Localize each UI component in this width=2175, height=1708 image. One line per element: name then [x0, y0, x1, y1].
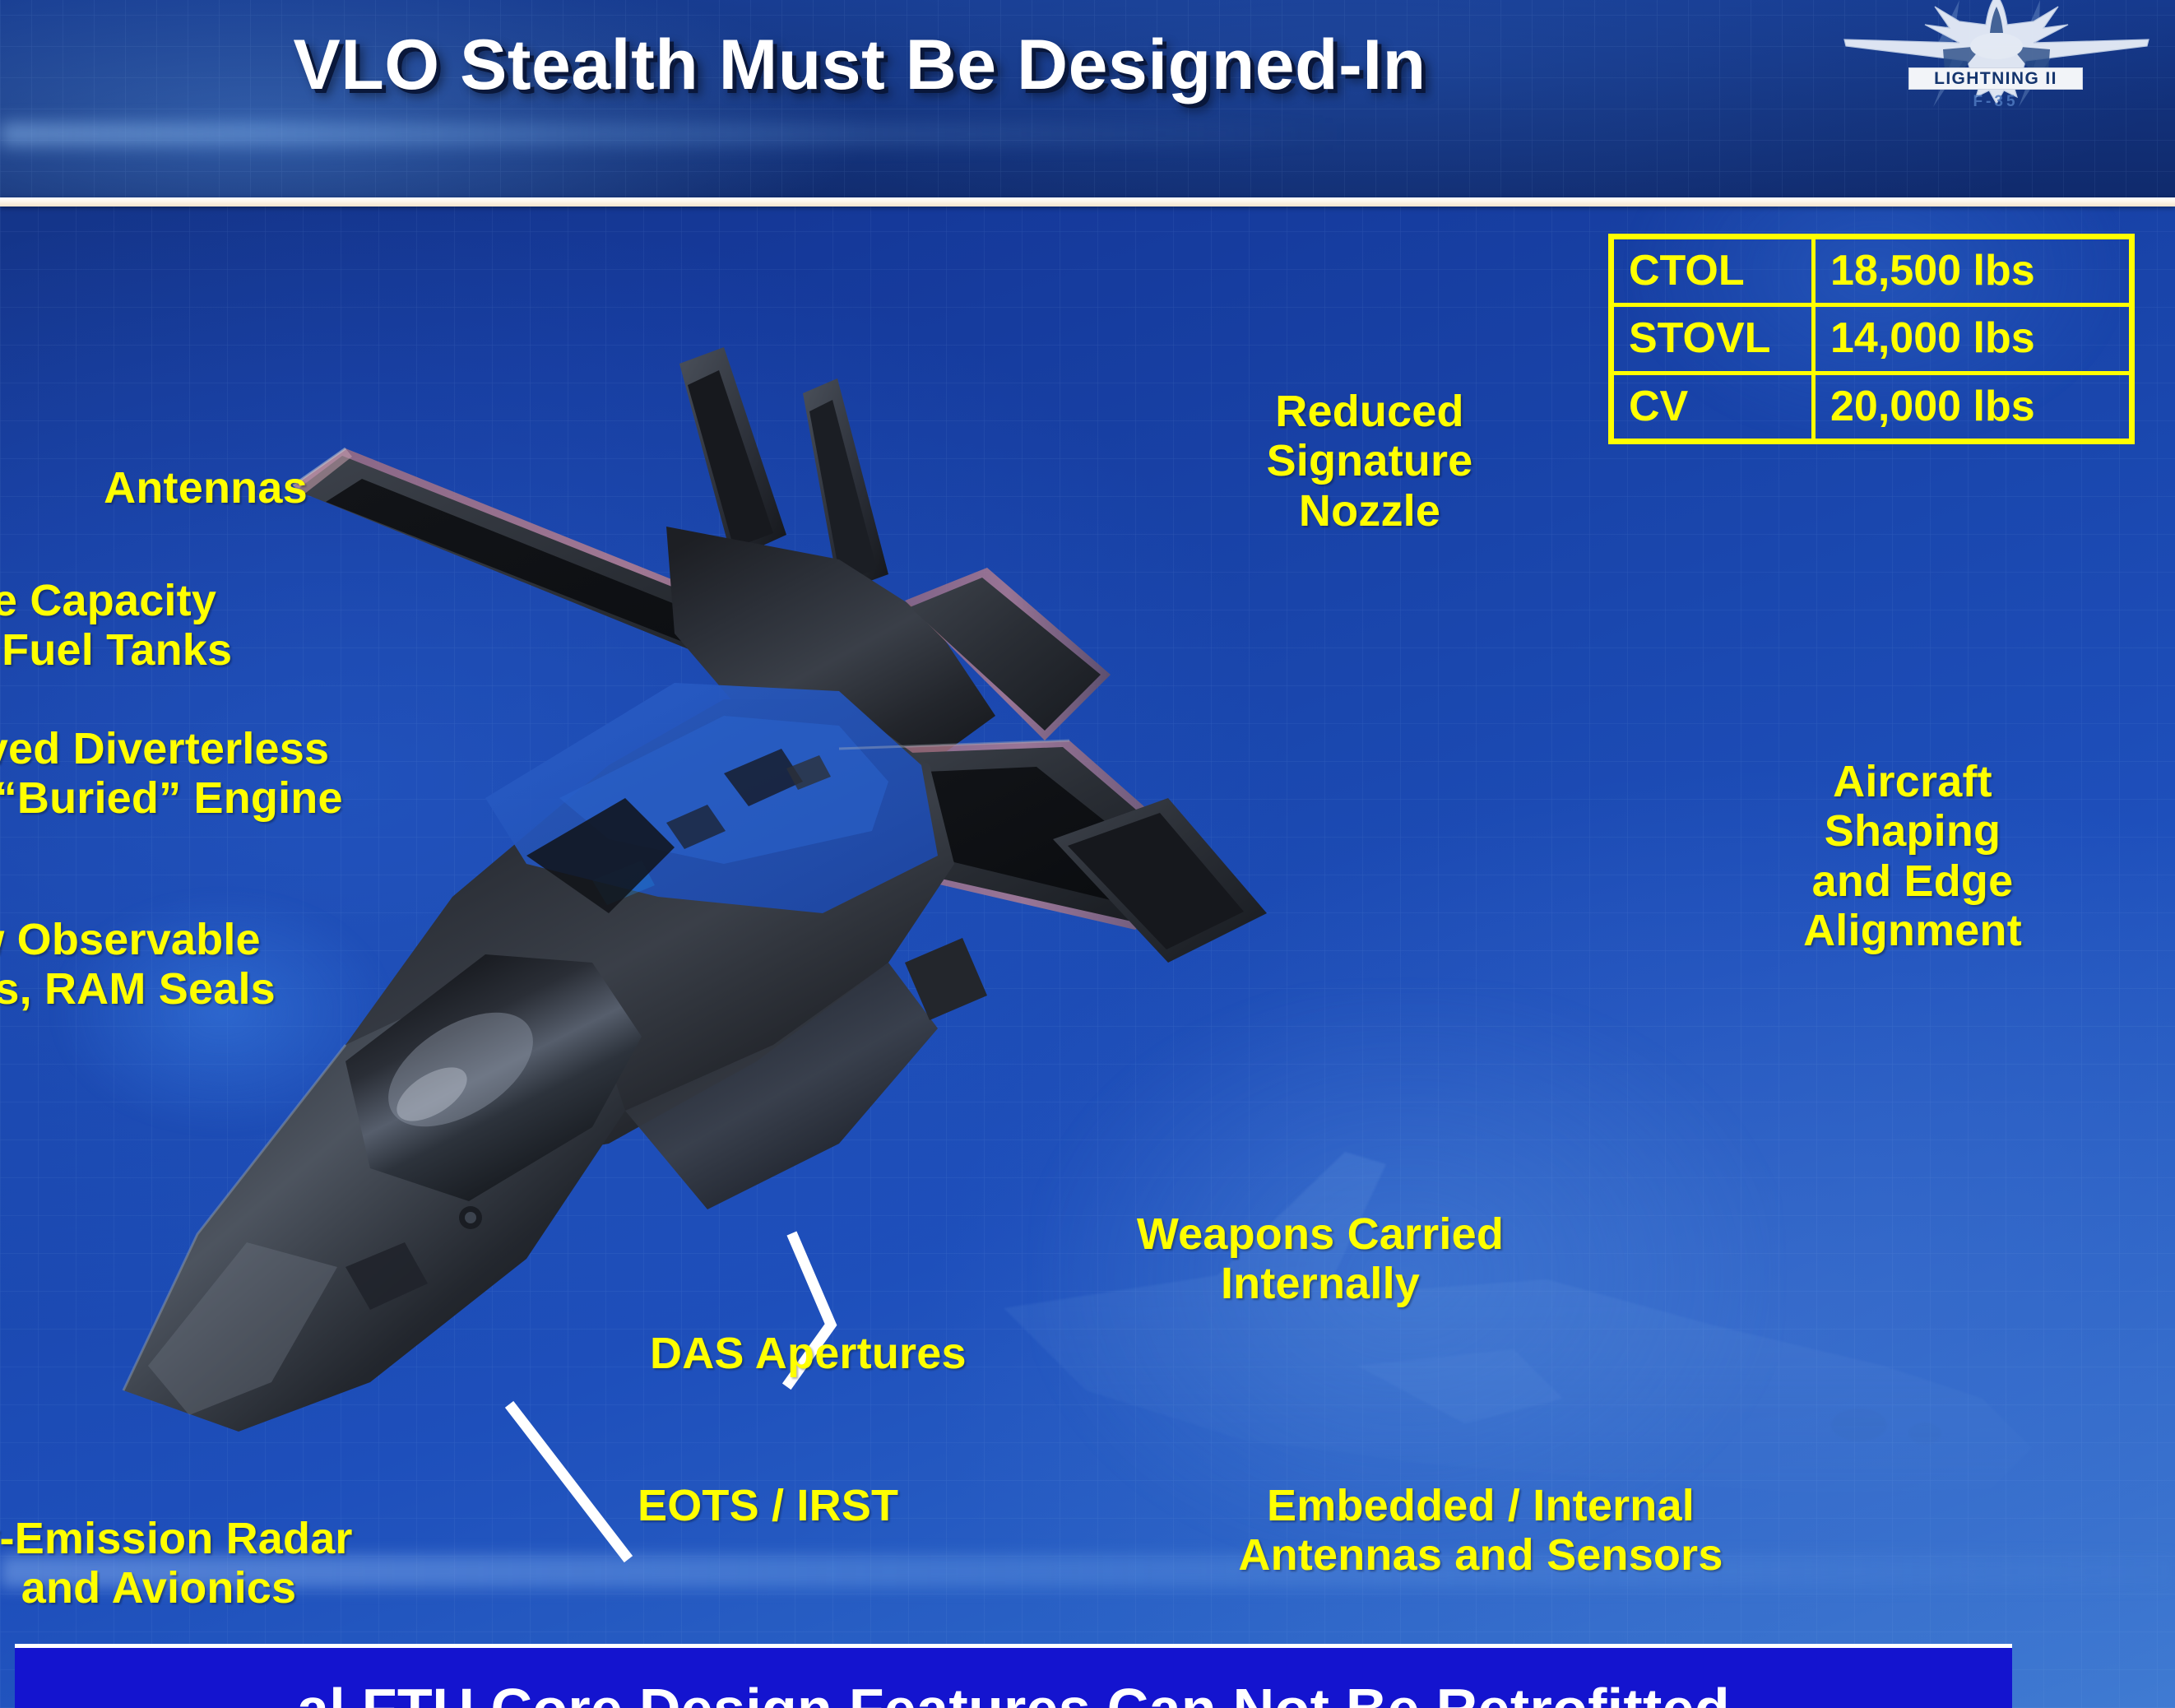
callout-fuel-capacity: e Capacity l Fuel Tanks	[0, 576, 281, 675]
callout-diverterless-inlet: ved Diverterless , “Buried” Engine	[0, 724, 420, 824]
callout-nozzle-line-1: Reduced	[1230, 387, 1510, 436]
callout-embedded-line-1: Embedded / Internal	[1152, 1481, 1810, 1530]
callout-fuel-line-2: l Fuel Tanks	[0, 625, 281, 675]
spec-variant: STOVL	[1612, 305, 1814, 373]
callout-eots-label: EOTS / IRST	[638, 1481, 898, 1530]
bottom-banner: al FTU Core Design Features Can Not Be R…	[15, 1644, 2012, 1708]
spec-payload: 20,000 lbs	[1814, 373, 2132, 441]
callout-nozzle-line-2: Signature	[1230, 436, 1510, 485]
header-light-streak	[0, 123, 1348, 145]
callout-shaping-line-4: Alignment	[1732, 906, 2094, 955]
callout-nozzle-line-3: Nozzle	[1230, 486, 1510, 536]
bottom-banner-text: al FTU Core Design Features Can Not Be R…	[15, 1676, 2012, 1708]
callout-eots-irst: EOTS / IRST	[638, 1481, 1024, 1530]
spec-payload: 14,000 lbs	[1814, 305, 2132, 373]
callout-das-label: DAS Apertures	[650, 1329, 967, 1378]
callout-fuel-line-1: e Capacity	[0, 576, 281, 625]
callout-inlet-line-2: , “Buried” Engine	[0, 773, 420, 823]
slide-root: VLO Stealth Must Be Designed-In LIGHTNIN…	[0, 0, 2175, 1708]
callout-embedded-line-2: Antennas and Sensors	[1152, 1530, 1810, 1580]
callout-embedded-antennas: Embedded / Internal Antennas and Sensors	[1152, 1481, 1810, 1580]
callout-low-emission-radar: w-Emission Radar and Avionics	[0, 1514, 410, 1613]
callout-weapons-line-2: Internally	[1074, 1259, 1567, 1308]
table-row: CV 20,000 lbs	[1612, 373, 2132, 441]
header-divider-rule	[0, 197, 2175, 207]
callout-lo-line-2: ms, RAM Seals	[0, 964, 329, 1014]
callout-radar-line-2: and Avionics	[0, 1563, 410, 1613]
page-title: VLO Stealth Must Be Designed-In	[0, 25, 1719, 106]
spec-payload: 18,500 lbs	[1814, 237, 2132, 305]
spec-variant: CTOL	[1612, 237, 1814, 305]
logo-wordmark: LIGHTNING II	[1908, 67, 2083, 90]
callout-antennas: Antennas	[86, 463, 325, 513]
callout-antennas-label: Antennas	[104, 463, 308, 513]
payload-spec-table: CTOL 18,500 lbs STOVL 14,000 lbs CV 20,0…	[1608, 234, 2135, 444]
callout-shaping-line-3: and Edge	[1732, 856, 2094, 906]
callout-aircraft-shaping: Aircraft Shaping and Edge Alignment	[1732, 757, 2094, 956]
callout-das-apertures: DAS Apertures	[650, 1329, 1053, 1378]
table-row: CTOL 18,500 lbs	[1612, 237, 2132, 305]
callout-lo-line-1: w Observable	[0, 915, 329, 964]
callout-weapons-internal: Weapons Carried Internally	[1074, 1209, 1567, 1309]
callout-low-observable-seals: w Observable ms, RAM Seals	[0, 915, 329, 1014]
callout-shaping-line-2: Shaping	[1732, 806, 2094, 856]
table-row: STOVL 14,000 lbs	[1612, 305, 2132, 373]
callout-inlet-line-1: ved Diverterless	[0, 724, 420, 773]
callout-reduced-signature-nozzle: Reduced Signature Nozzle	[1230, 387, 1510, 536]
callout-shaping-line-1: Aircraft	[1732, 757, 2094, 806]
callout-radar-line-1: w-Emission Radar	[0, 1514, 410, 1563]
spec-variant: CV	[1612, 373, 1814, 441]
logo-subtext: F-35	[1908, 93, 2083, 111]
callout-weapons-line-1: Weapons Carried	[1074, 1209, 1567, 1259]
f35-logo: LIGHTNING II F-35	[1836, 0, 2157, 115]
